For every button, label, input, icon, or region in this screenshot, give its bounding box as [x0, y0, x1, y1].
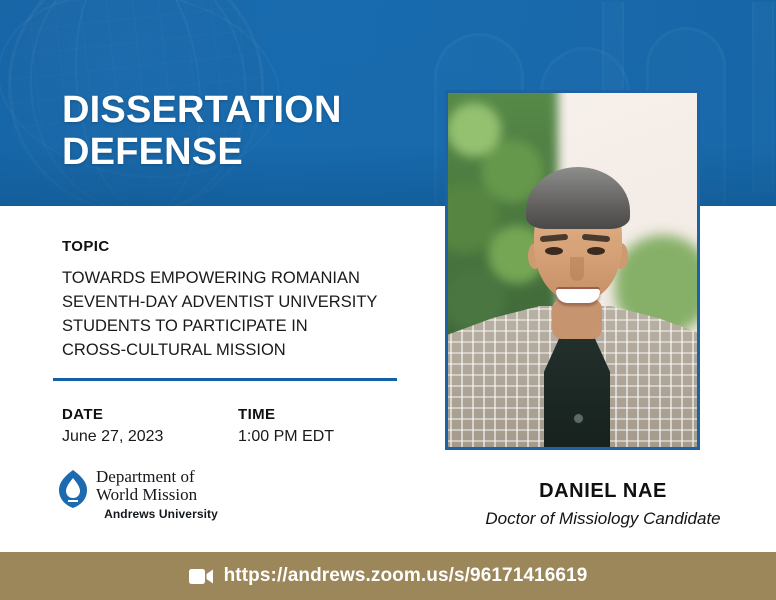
- portrait-eye-left: [545, 247, 563, 255]
- portrait-shirt-button: [572, 412, 585, 425]
- dissertation-defense-flyer: DISSERTATION DEFENSE TOPIC TOWARDS EMPOW…: [0, 0, 776, 600]
- portrait-nose: [570, 257, 584, 281]
- department-logo: Department of World Mission Andrews Univ…: [58, 470, 228, 528]
- zoom-link-bar: https://andrews.zoom.us/s/96171416619: [0, 552, 776, 600]
- logo-university-name: Andrews University: [96, 507, 226, 521]
- presenter-portrait-illustration: [448, 93, 697, 447]
- portrait-neck: [552, 299, 602, 339]
- time-value: 1:00 PM EDT: [238, 428, 334, 446]
- portrait-mouth: [556, 289, 600, 303]
- page-title: DISSERTATION DEFENSE: [62, 89, 342, 173]
- topic-text: TOWARDS EMPOWERING ROMANIAN SEVENTH-DAY …: [62, 266, 422, 362]
- date-block: DATE June 27, 2023: [62, 406, 163, 446]
- video-camera-icon: [189, 569, 213, 584]
- logo-department-name: Department of World Mission: [96, 468, 226, 504]
- time-block: TIME 1:00 PM EDT: [238, 406, 334, 446]
- logo-wordmark: Department of World Mission Andrews Univ…: [96, 468, 226, 521]
- section-divider: [53, 378, 397, 381]
- date-value: June 27, 2023: [62, 428, 163, 446]
- zoom-meeting-url[interactable]: https://andrews.zoom.us/s/96171416619: [224, 565, 588, 587]
- presenter-name: DANIEL NAE: [430, 480, 776, 503]
- portrait-eye-right: [587, 247, 605, 255]
- flame-shield-icon: [58, 470, 88, 508]
- date-label: DATE: [62, 406, 163, 423]
- presenter-name-block: DANIEL NAE Doctor of Missiology Candidat…: [430, 480, 776, 529]
- topic-label: TOPIC: [62, 238, 110, 255]
- time-label: TIME: [238, 406, 334, 423]
- presenter-role: Doctor of Missiology Candidate: [430, 509, 776, 529]
- presenter-photo: [445, 90, 700, 450]
